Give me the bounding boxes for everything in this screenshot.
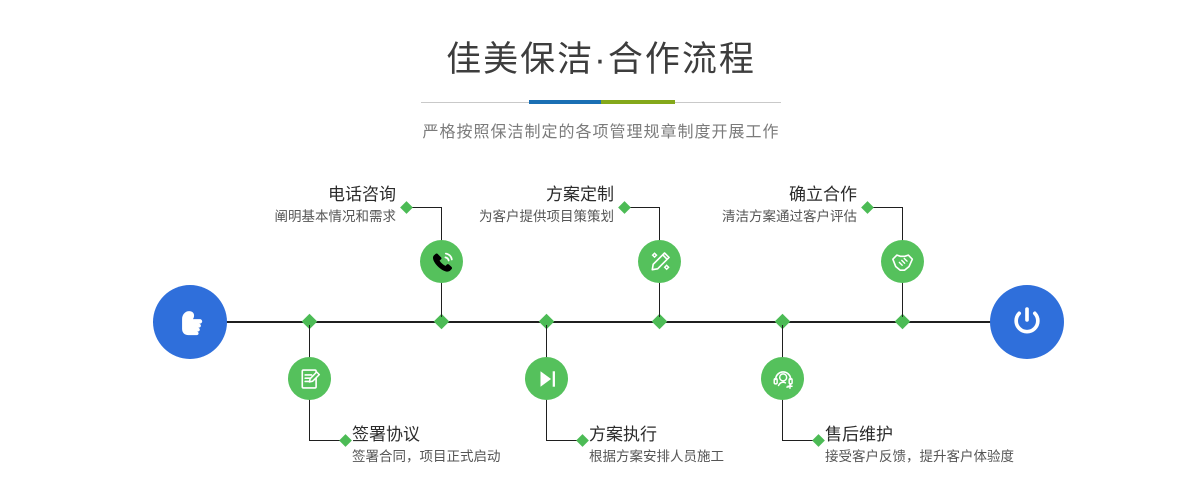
node-step-2[interactable]: [288, 357, 331, 400]
step-desc: 清洁方案通过客户评估: [611, 207, 857, 226]
timeline-end-cap[interactable]: [990, 285, 1064, 359]
handshake-icon: [890, 249, 916, 275]
label-step-5: 确立合作 清洁方案通过客户评估: [611, 185, 857, 226]
divider-segment-blue: [529, 100, 601, 104]
label-marker-step-5: [861, 201, 874, 214]
node-step-6[interactable]: [761, 357, 804, 400]
page-subtitle: 严格按照保洁制定的各项管理规章制度开展工作: [0, 118, 1202, 142]
title-divider: [421, 97, 781, 109]
pencil-ruler-icon: [647, 249, 673, 275]
step-desc: 接受客户反馈，提升客户体验度: [825, 447, 1125, 466]
divider-segment-green: [601, 100, 675, 104]
node-step-5[interactable]: [881, 240, 924, 283]
label-step-1: 电话咨询 阐明基本情况和需求: [150, 185, 396, 226]
step-title: 电话咨询: [150, 185, 396, 205]
phone-call-icon: [429, 249, 455, 275]
label-marker-step-2: [339, 434, 352, 447]
step-title: 方案定制: [368, 185, 614, 205]
step-desc: 为客户提供项目策策划: [368, 207, 614, 226]
label-step-6: 售后维护 接受客户反馈，提升客户体验度: [825, 425, 1125, 466]
pointing-hand-icon: [170, 302, 210, 342]
play-to-end-icon: [534, 366, 560, 392]
header: 佳美保洁·合作流程 严格按照保洁制定的各项管理规章制度开展工作: [0, 0, 1202, 142]
page-title: 佳美保洁·合作流程: [0, 42, 1202, 77]
step-desc: 阐明基本情况和需求: [150, 207, 396, 226]
step-title: 确立合作: [611, 185, 857, 205]
document-edit-icon: [297, 366, 323, 392]
timeline-axis: [153, 321, 1049, 323]
step-title: 售后维护: [825, 425, 1125, 445]
node-step-3[interactable]: [638, 240, 681, 283]
customer-service-add-icon: [770, 366, 796, 392]
process-flow-diagram: 佳美保洁·合作流程 严格按照保洁制定的各项管理规章制度开展工作: [0, 0, 1202, 502]
timeline-start-cap[interactable]: [153, 285, 227, 359]
node-step-4[interactable]: [525, 357, 568, 400]
label-step-3: 方案定制 为客户提供项目策策划: [368, 185, 614, 226]
power-button-icon: [1007, 302, 1047, 342]
node-step-1[interactable]: [420, 240, 463, 283]
